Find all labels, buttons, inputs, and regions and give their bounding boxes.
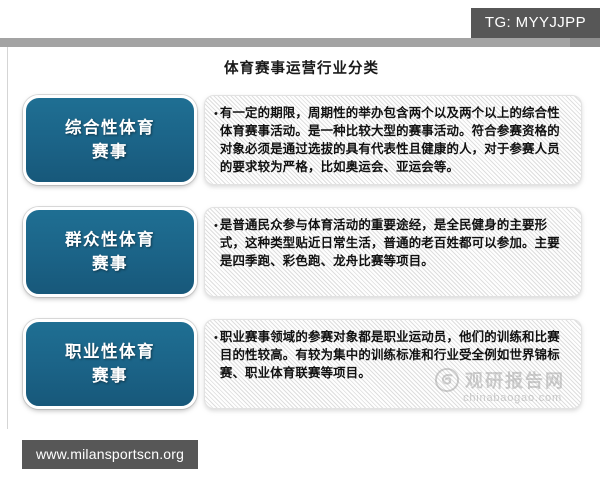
diagram-card: 体育赛事运营行业分类 综合性体育 赛事 • 有一定的期限，周期性的举办包含两个以… <box>7 47 595 429</box>
category-rows: 综合性体育 赛事 • 有一定的期限，周期性的举办包含两个以及两个以上的综合性体育… <box>8 91 596 427</box>
top-bar: TG: MYYJJPP <box>0 0 600 38</box>
footer-url-badge: www.milansportscn.org <box>22 440 198 469</box>
category-label-text: 职业性体育 赛事 <box>57 340 163 388</box>
category-label-box-mass[interactable]: 群众性体育 赛事 <box>23 207 197 297</box>
category-label-box-professional[interactable]: 职业性体育 赛事 <box>23 319 197 409</box>
category-label-box-comprehensive[interactable]: 综合性体育 赛事 <box>23 95 197 185</box>
watermark-domain: chinabaogao.com <box>460 392 565 404</box>
category-description-panel: • 是普通民众参与体育活动的重要途经，是全民健身的主要形式，这种类型贴近日常生活… <box>204 207 582 297</box>
category-label-text: 综合性体育 赛事 <box>57 116 163 164</box>
category-label-text: 群众性体育 赛事 <box>57 228 163 276</box>
page-title: 体育赛事运营行业分类 <box>8 47 595 78</box>
category-row: 职业性体育 赛事 • 职业赛事领域的参赛对象都是职业运动员，他们的训练和比赛目的… <box>8 315 596 413</box>
tg-handle-badge: TG: MYYJJPP <box>471 8 600 38</box>
gray-divider-strip <box>0 38 600 47</box>
category-row: 综合性体育 赛事 • 有一定的期限，周期性的举办包含两个以及两个以上的综合性体育… <box>8 91 596 189</box>
gray-strip-notch <box>570 38 600 47</box>
category-description-panel: • 有一定的期限，周期性的举办包含两个以及两个以上的综合性体育赛事活动。是一种比… <box>204 95 582 185</box>
category-row: 群众性体育 赛事 • 是普通民众参与体育活动的重要途经，是全民健身的主要形式，这… <box>8 203 596 301</box>
category-description-text: 有一定的期限，周期性的举办包含两个以及两个以上的综合性体育赛事活动。是一种比较大… <box>220 105 571 176</box>
category-description-panel: • 职业赛事领域的参赛对象都是职业运动员，他们的训练和比赛目的性较高。有较为集中… <box>204 319 582 409</box>
category-description-text: 是普通民众参与体育活动的重要途经，是全民健身的主要形式，这种类型贴近日常生活，普… <box>220 217 571 271</box>
category-description-text: 职业赛事领域的参赛对象都是职业运动员，他们的训练和比赛目的性较高。有较为集中的训… <box>220 329 571 383</box>
